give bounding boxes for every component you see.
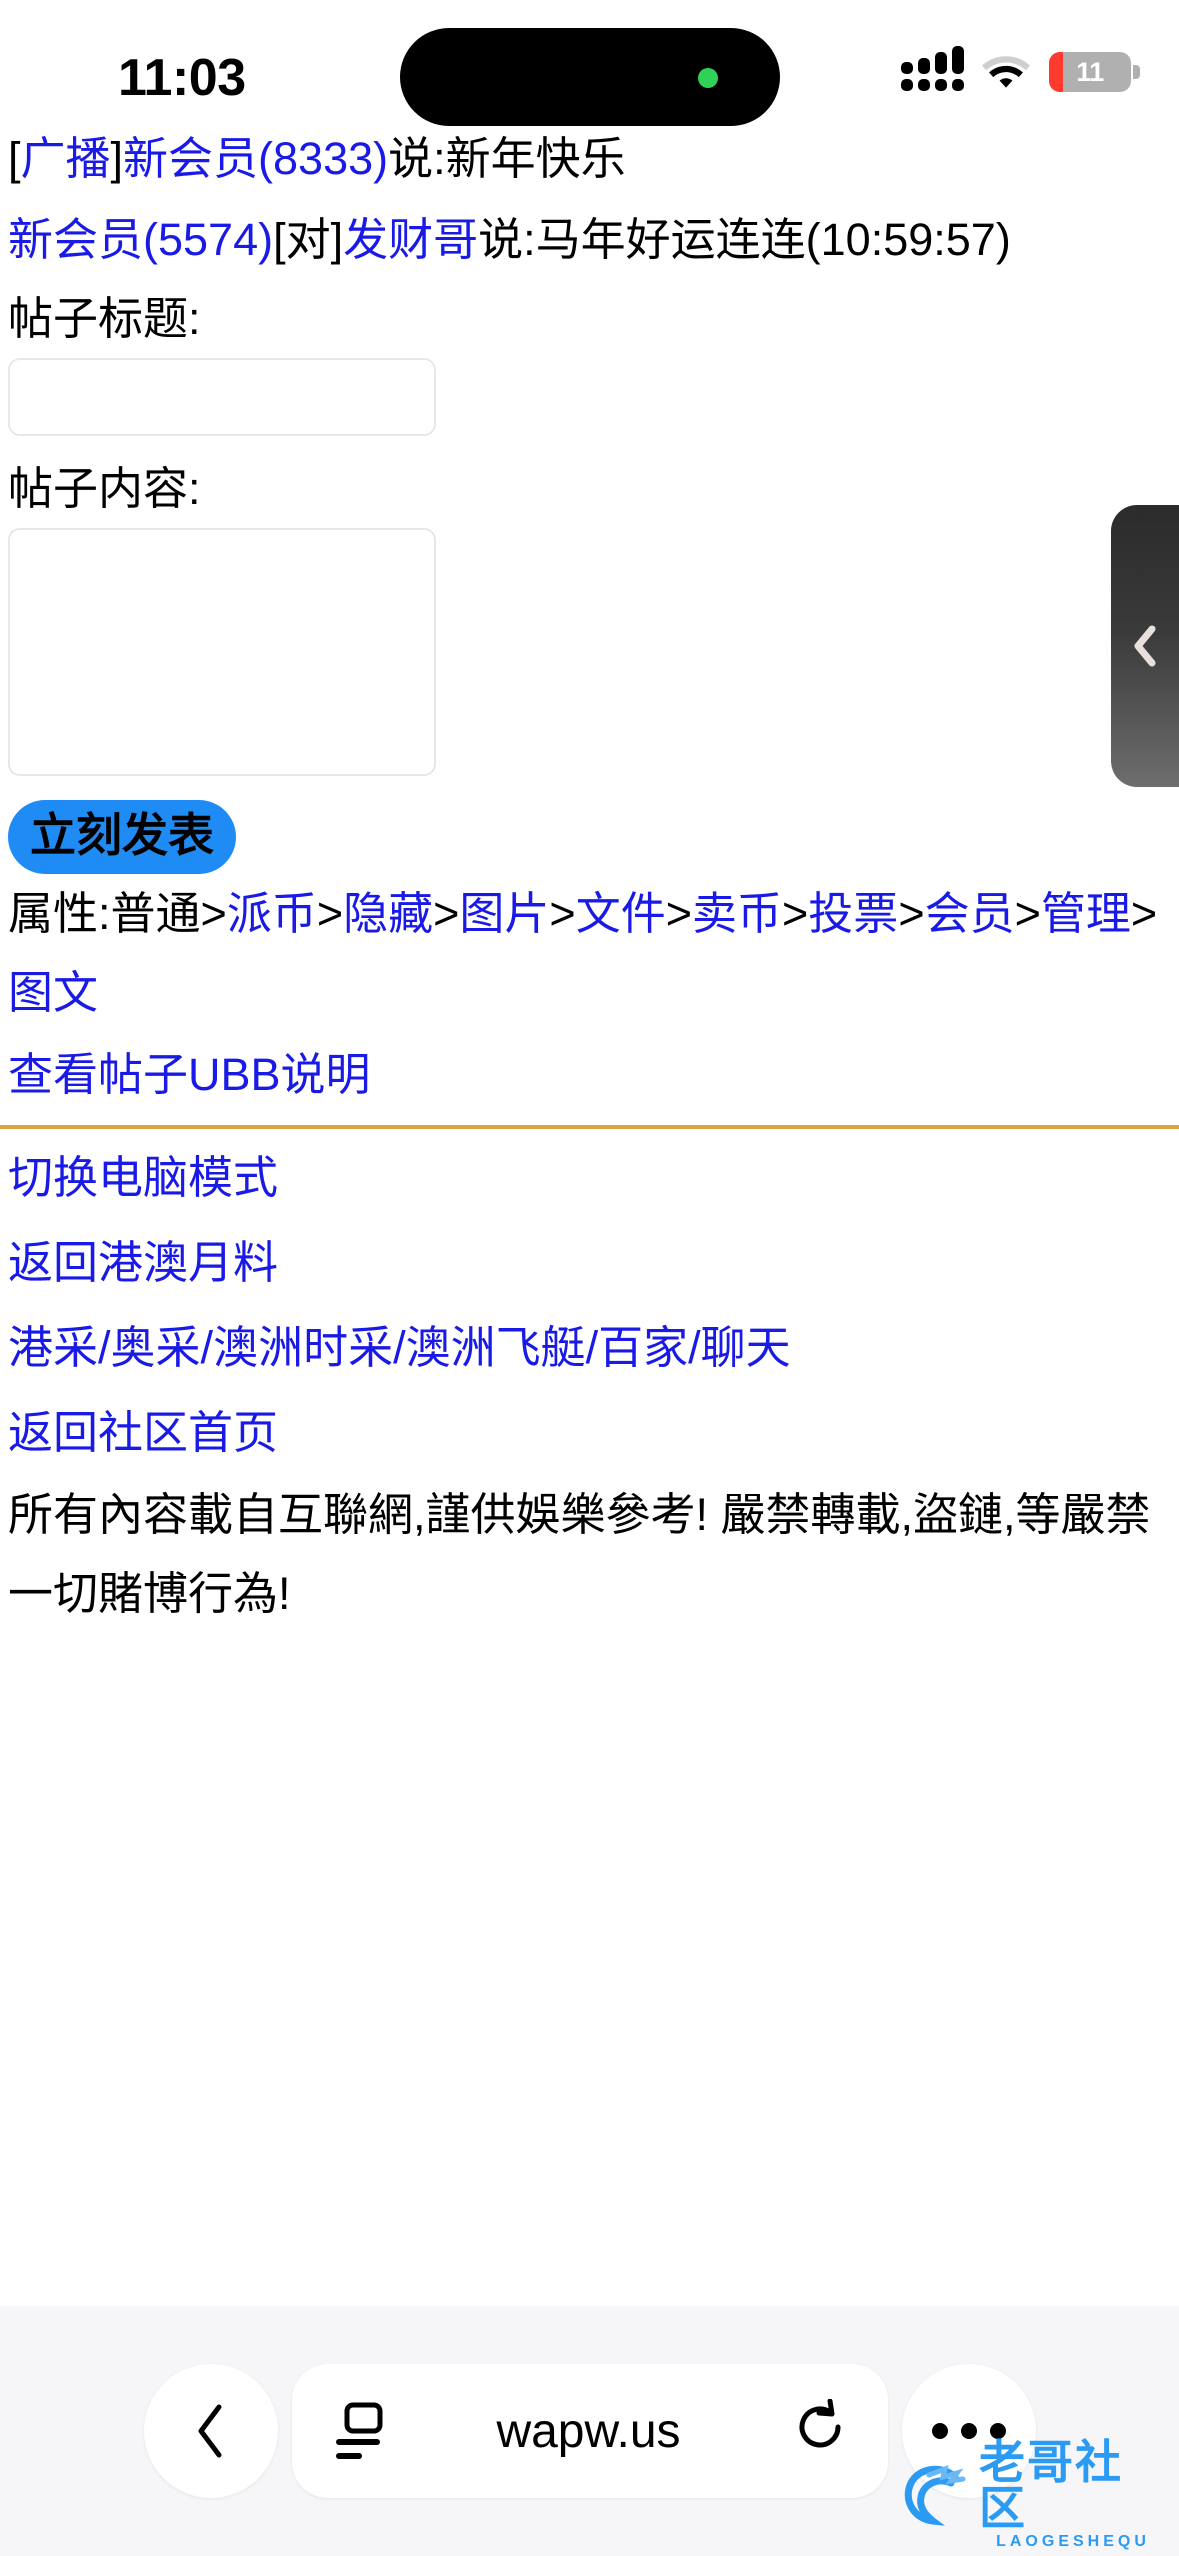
site-watermark: 老哥社区 LAOGESHEQU [899,2440,1167,2548]
back-board-row: 返回港澳月料 [8,1220,1171,1305]
back-to-home-link[interactable]: 返回社区首页 [8,1407,278,1458]
status-bar: 11:03 11 [0,0,1179,120]
wifi-icon [981,53,1031,91]
watermark-cn-label: 老哥社区 [979,2439,1167,2531]
broadcast-2-tag: 对 [286,214,331,265]
attributes-separator: > [1015,888,1041,939]
broadcast-2-target-link[interactable]: 发财哥 [343,214,478,265]
broadcast-1-verb: 说: [388,133,446,184]
switch-desktop-mode-link[interactable]: 切换电脑模式 [8,1152,278,1203]
attributes-prefix: 属性: [8,888,111,939]
browser-url-label: wapw.us [384,2404,794,2459]
attribute-option-7[interactable]: 会员 [925,888,1015,939]
broadcast-1-open-bracket: [ [8,133,21,184]
attributes-separator: > [898,888,924,939]
attributes-separator: > [201,888,227,939]
quick-link-separator: / [586,1322,599,1373]
broadcast-message-1: [广播]新会员(8333)说:新年快乐 [8,118,1171,199]
disclaimer-text: 所有內容載自互聯網,謹供娛樂參考! 嚴禁轉載,盜鏈,等嚴禁一切賭博行為! [8,1475,1171,1633]
broadcast-1-text: 新年快乐 [446,133,626,184]
quick-links-row: 港采/奥采/澳洲时采/澳洲飞艇/百家/聊天 [8,1305,1171,1390]
broadcast-1-user-link[interactable]: 新会员(8333) [123,133,388,184]
broadcast-2-verb: 说: [478,214,536,265]
attributes-separator: > [666,888,692,939]
watermark-en-label: LAOGESHEQU [979,2534,1167,2550]
camera-active-indicator-icon [698,68,718,88]
status-bar-indicators: 11 [901,52,1131,92]
post-title-label: 帖子标题: [8,280,1171,358]
ubb-help-row: 查看帖子UBB说明 [8,1032,1171,1117]
broadcast-2-text: 马年好运连连(10:59:57) [536,214,1011,265]
dragon-logo-icon [899,2457,973,2531]
attribute-option-8[interactable]: 管理 [1041,888,1131,939]
cellular-signal-icon [901,53,963,91]
quick-link-4[interactable]: 澳洲飞艇 [406,1322,586,1373]
broadcast-message-2: 新会员(5574)[对]发财哥说:马年好运连连(10:59:57) [8,199,1171,280]
battery-level-label: 11 [1076,57,1104,88]
ubb-help-link[interactable]: 查看帖子UBB说明 [8,1049,371,1100]
status-bar-clock: 11:03 [118,48,246,108]
attribute-option-1[interactable]: 派币 [227,888,317,939]
desktop-mode-row: 切换电脑模式 [8,1135,1171,1220]
attribute-option-4[interactable]: 文件 [576,888,666,939]
post-content-label: 帖子内容: [8,450,1171,528]
quick-link-separator: / [98,1322,111,1373]
reload-icon[interactable] [794,2399,850,2463]
quick-link-2[interactable]: 奥采 [111,1322,201,1373]
home-row: 返回社区首页 [8,1390,1171,1475]
browser-url-bar[interactable]: wapw.us [292,2364,888,2498]
broadcast-1-close-bracket: ] [111,133,124,184]
dynamic-island [400,28,780,126]
broadcast-1-tag-link[interactable]: 广播 [21,133,111,184]
quick-link-separator: / [201,1322,214,1373]
attributes-current: 普通 [111,888,201,939]
watermark-text: 老哥社区 LAOGESHEQU [979,2439,1167,2550]
back-to-board-link[interactable]: 返回港澳月料 [8,1237,278,1288]
broadcast-2-user-link[interactable]: 新会员(5574) [8,214,273,265]
attribute-option-5[interactable]: 卖币 [692,888,782,939]
attributes-separator: > [782,888,808,939]
attributes-separator: > [433,888,459,939]
floating-side-tab[interactable] [1111,505,1179,787]
broadcast-2-close-bracket: ] [331,214,344,265]
quick-link-5[interactable]: 百家 [598,1322,688,1373]
attribute-option-2[interactable]: 隐藏 [343,888,433,939]
quick-link-separator: / [393,1322,406,1373]
attribute-option-9[interactable]: 图文 [8,967,98,1018]
quick-link-6[interactable]: 聊天 [701,1322,791,1373]
section-divider [0,1125,1179,1129]
attributes-separator: > [317,888,343,939]
browser-back-button[interactable] [144,2364,278,2498]
page-content: [广播]新会员(8333)说:新年快乐 新会员(5574)[对]发财哥说:马年好… [0,118,1179,1633]
chevron-left-icon [190,2401,232,2461]
submit-post-button[interactable]: 立刻发表 [8,800,236,874]
quick-link-separator: / [688,1322,701,1373]
reader-mode-icon[interactable] [330,2399,384,2463]
broadcast-2-open-bracket: [ [273,214,286,265]
post-content-textarea[interactable] [8,528,436,776]
attributes-separator: > [549,888,575,939]
attribute-option-6[interactable]: 投票 [808,888,898,939]
quick-link-1[interactable]: 港采 [8,1322,98,1373]
attributes-separator: > [1131,888,1157,939]
chevron-left-icon [1128,623,1162,669]
post-attributes-row: 属性:普通>派币>隐藏>图片>文件>卖币>投票>会员>管理>图文 [8,874,1171,1032]
quick-link-3[interactable]: 澳洲时采 [213,1322,393,1373]
attribute-option-3[interactable]: 图片 [459,888,549,939]
post-title-input[interactable] [8,358,436,436]
battery-icon: 11 [1049,52,1131,92]
phone-screen: 11:03 11 [广播]新会员(8333)说:新年快乐 新 [0,0,1179,2556]
